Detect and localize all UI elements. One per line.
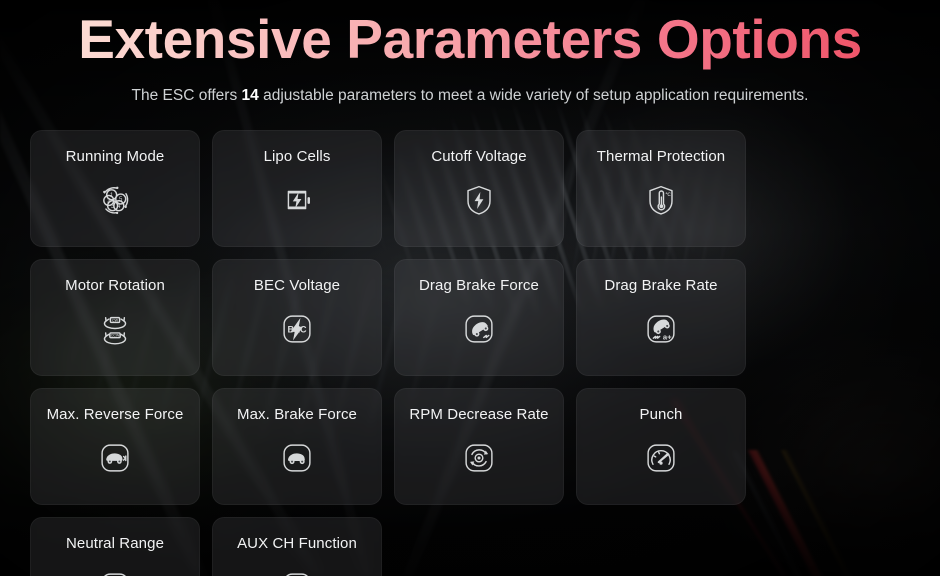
- parameter-card-running-mode[interactable]: Running Mode: [30, 130, 200, 247]
- page-subtitle: The ESC offers 14 adjustable parameters …: [0, 86, 940, 106]
- card-title: Lipo Cells: [264, 148, 331, 166]
- card-title: Thermal Protection: [597, 148, 726, 166]
- card-title: Neutral Range: [66, 535, 164, 553]
- battery-bolt-icon: [275, 178, 319, 222]
- parameter-card-max-brake-force[interactable]: Max. Brake Force: [212, 388, 382, 505]
- shield-bolt-icon: [457, 178, 501, 222]
- shield-thermometer-icon: ℃: [639, 178, 683, 222]
- svg-text:CCW: CCW: [111, 334, 120, 338]
- card-title: Drag Brake Force: [419, 277, 539, 295]
- svg-text:CW: CW: [112, 318, 119, 322]
- parameter-card-lipo-cells[interactable]: Lipo Cells: [212, 130, 382, 247]
- parameters-options-page: Extensive Parameters Options The ESC off…: [0, 0, 940, 576]
- card-title: Max. Reverse Force: [47, 406, 184, 424]
- page-header: Extensive Parameters Options The ESC off…: [0, 0, 940, 106]
- parameter-card-drag-brake-rate[interactable]: Drag Brake Rate a+: [576, 259, 746, 376]
- parameter-card-thermal-protection[interactable]: Thermal Protection ℃: [576, 130, 746, 247]
- parameter-card-motor-rotation[interactable]: Motor Rotation CW CCW: [30, 259, 200, 376]
- motor-rotation-icon: CW CCW: [93, 307, 137, 351]
- gauge-icon: [639, 436, 683, 480]
- subtitle-text-before: The ESC offers: [132, 87, 242, 104]
- card-title: BEC Voltage: [254, 277, 340, 295]
- parameter-card-grid: Running Mode: [0, 130, 940, 576]
- svg-text:a+: a+: [663, 333, 672, 342]
- parameter-card-max-reverse-force[interactable]: Max. Reverse Force: [30, 388, 200, 505]
- parameter-card-drag-brake-force[interactable]: Drag Brake Force: [394, 259, 564, 376]
- parameter-card-rpm-decrease-rate[interactable]: RPM Decrease Rate: [394, 388, 564, 505]
- neutral-range-icon: [93, 565, 137, 576]
- car-brake-rate-icon: a+: [639, 307, 683, 351]
- running-mode-icon: 1 2 3 4 5: [93, 178, 137, 222]
- card-title: Punch: [639, 406, 682, 424]
- card-title: Running Mode: [66, 148, 165, 166]
- parameter-card-neutral-range[interactable]: Neutral Range: [30, 517, 200, 576]
- car-brake-icon: [457, 307, 501, 351]
- car-front-icon: [275, 436, 319, 480]
- rpm-rotation-icon: [457, 436, 501, 480]
- card-title: Drag Brake Rate: [604, 277, 717, 295]
- aux-channels-icon: [275, 565, 319, 576]
- car-reverse-icon: [93, 436, 137, 480]
- parameter-card-punch[interactable]: Punch: [576, 388, 746, 505]
- parameter-card-cutoff-voltage[interactable]: Cutoff Voltage: [394, 130, 564, 247]
- card-title: Motor Rotation: [65, 277, 165, 295]
- svg-text:4: 4: [117, 204, 121, 210]
- bec-bolt-icon: BEC: [275, 307, 319, 351]
- page-title: Extensive Parameters Options: [0, 6, 940, 72]
- subtitle-parameter-count: 14: [242, 87, 259, 104]
- card-title: RPM Decrease Rate: [409, 406, 548, 424]
- subtitle-text-after: adjustable parameters to meet a wide var…: [259, 87, 809, 104]
- parameter-card-bec-voltage[interactable]: BEC Voltage BEC: [212, 259, 382, 376]
- card-title: Max. Brake Force: [237, 406, 357, 424]
- parameter-card-aux-ch-function[interactable]: AUX CH Function: [212, 517, 382, 576]
- card-title: AUX CH Function: [237, 535, 357, 553]
- svg-text:℃: ℃: [665, 192, 671, 198]
- card-title: Cutoff Voltage: [431, 148, 526, 166]
